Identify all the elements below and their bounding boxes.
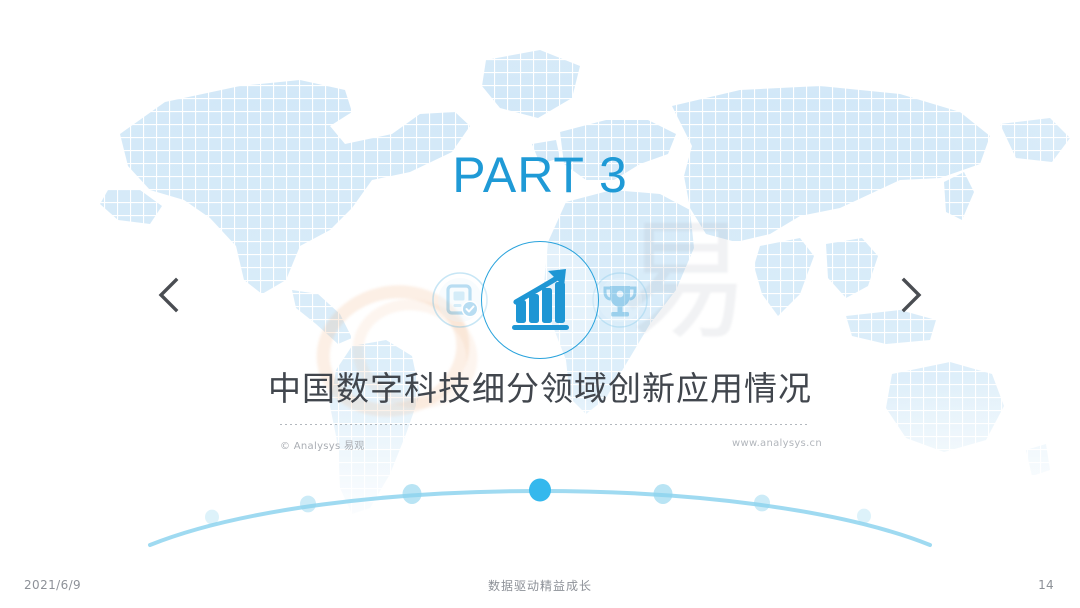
title-divider (280, 424, 810, 425)
progress-dot-active[interactable] (529, 478, 551, 501)
slide-canvas: 易 PART 3 (0, 0, 1080, 608)
slide-footer: 2021/6/9 数据驱动精益成长 14 (0, 562, 1080, 608)
progress-dot[interactable] (205, 510, 219, 525)
progress-dot[interactable] (300, 496, 316, 513)
progress-arc (0, 455, 1080, 565)
progress-dot[interactable] (857, 509, 871, 524)
footer-tagline: 数据驱动精益成长 (0, 577, 1080, 594)
progress-dot[interactable] (654, 484, 673, 504)
progress-dot-group (205, 478, 871, 524)
progress-dot[interactable] (403, 484, 422, 504)
bar-chart-growth-icon[interactable] (481, 241, 599, 359)
progress-dot[interactable] (754, 495, 770, 512)
part-label: PART 3 (0, 150, 1080, 200)
footer-page-number: 14 (1038, 578, 1054, 592)
copyright-text: © Analysys 易观 (280, 437, 365, 452)
section-icon-cluster (0, 240, 1080, 360)
progress-arc-svg (0, 455, 1080, 565)
page-title: 中国数字科技细分领域创新应用情况 (0, 370, 1080, 408)
website-url-text[interactable]: www.analysys.cn (732, 438, 822, 449)
